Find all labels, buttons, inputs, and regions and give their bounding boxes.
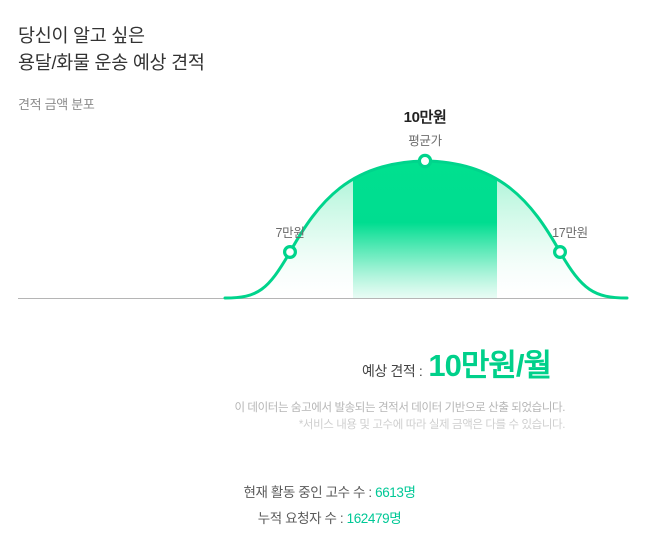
page-title-line-2: 용달/화물 운송 예상 견적 xyxy=(18,49,518,76)
estimate-result-row: 예상 견적 : 10만원/월 xyxy=(0,350,659,381)
marker-upper-bound[interactable] xyxy=(555,247,566,258)
lower-bound-label: 7만원 xyxy=(275,222,304,241)
peak-value-label: 10만원 xyxy=(404,106,447,127)
marker-lower-bound[interactable] xyxy=(285,247,296,258)
total-requests-stat: 누적 요청자 수 : 162479명 xyxy=(0,506,659,532)
page-header: 당신이 알고 싶은 용달/화물 운송 예상 견적 xyxy=(18,22,518,76)
upper-bound-label: 17만원 xyxy=(552,222,588,241)
bell-curve-svg xyxy=(0,100,659,310)
estimate-result-value: 10만원/월 xyxy=(428,350,551,381)
estimate-result-label: 예상 견적 : xyxy=(362,361,422,381)
active-pros-value: 6613명 xyxy=(375,485,415,500)
disclaimer-note: *서비스 내용 및 고수에 따라 실제 금액은 다를 수 있습니다. xyxy=(0,416,659,432)
marker-mean-peak[interactable] xyxy=(419,155,430,166)
footer-stats: 현재 활동 중인 고수 수 : 6613명 누적 요청자 수 : 162479명 xyxy=(0,480,659,532)
peak-caption-label: 평균가 xyxy=(408,130,442,149)
active-pros-label: 현재 활동 중인 고수 수 : xyxy=(243,485,375,500)
active-pros-stat: 현재 활동 중인 고수 수 : 6613명 xyxy=(0,480,659,506)
data-source-note: 이 데이터는 숨고에서 발송되는 견적서 데이터 기반으로 산출 되었습니다. xyxy=(0,399,659,415)
distribution-chart: 10만원 평균가 7만원 17만원 xyxy=(0,100,659,310)
total-requests-label: 누적 요청자 수 : xyxy=(258,511,347,526)
estimate-distribution-page: 당신이 알고 싶은 용달/화물 운송 예상 견적 견적 금액 분포 xyxy=(0,0,659,545)
total-requests-value: 162479명 xyxy=(347,511,402,526)
page-title-line-1: 당신이 알고 싶은 xyxy=(18,22,518,49)
